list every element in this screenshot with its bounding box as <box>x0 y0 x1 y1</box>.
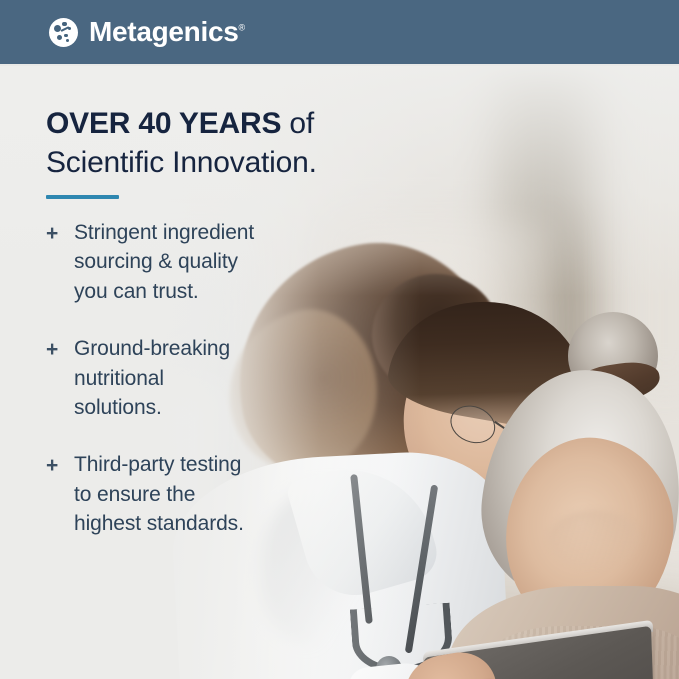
headline-light: of <box>281 107 314 140</box>
logo-dot-5 <box>64 34 68 38</box>
registered-trademark-icon: ® <box>239 23 246 33</box>
plus-icon: + <box>46 218 74 248</box>
page-title: OVER 40 YEARS of Scientific Innovation. <box>46 104 317 182</box>
list-item: + Stringent ingredient sourcing & qualit… <box>46 218 376 306</box>
hero-copy-block: OVER 40 YEARS of Scientific Innovation. … <box>0 66 679 679</box>
list-item: + Ground-breaking nutritional solutions. <box>46 334 376 422</box>
brand-header-bar: Metagenics® <box>0 0 679 64</box>
logo-dot-6 <box>66 39 69 42</box>
metagenics-advertisement: Metagenics® <box>0 0 679 679</box>
brand-lockup[interactable]: Metagenics® <box>49 0 245 64</box>
logo-dot-1 <box>54 25 61 32</box>
benefit-list: + Stringent ingredient sourcing & qualit… <box>46 218 376 539</box>
list-item-label: Ground-breaking nutritional solutions. <box>74 334 230 422</box>
list-item-label: Stringent ingredient sourcing & quality … <box>74 218 254 306</box>
list-item-label: Third-party testing to ensure the highes… <box>74 450 244 538</box>
brand-wordmark: Metagenics® <box>89 18 245 46</box>
plus-icon: + <box>46 334 74 364</box>
plus-icon: + <box>46 450 74 480</box>
logo-dot-4 <box>57 35 62 40</box>
list-item: + Third-party testing to ensure the high… <box>46 450 376 538</box>
headline-line-2: Scientific Innovation. <box>46 143 317 182</box>
logo-dot-2 <box>62 22 67 27</box>
logo-dot-3 <box>68 27 71 30</box>
headline-strong: OVER 40 YEARS <box>46 107 281 140</box>
metagenics-molecule-circle-icon <box>49 18 78 47</box>
accent-divider <box>46 195 119 199</box>
brand-name-text: Metagenics <box>89 16 239 47</box>
